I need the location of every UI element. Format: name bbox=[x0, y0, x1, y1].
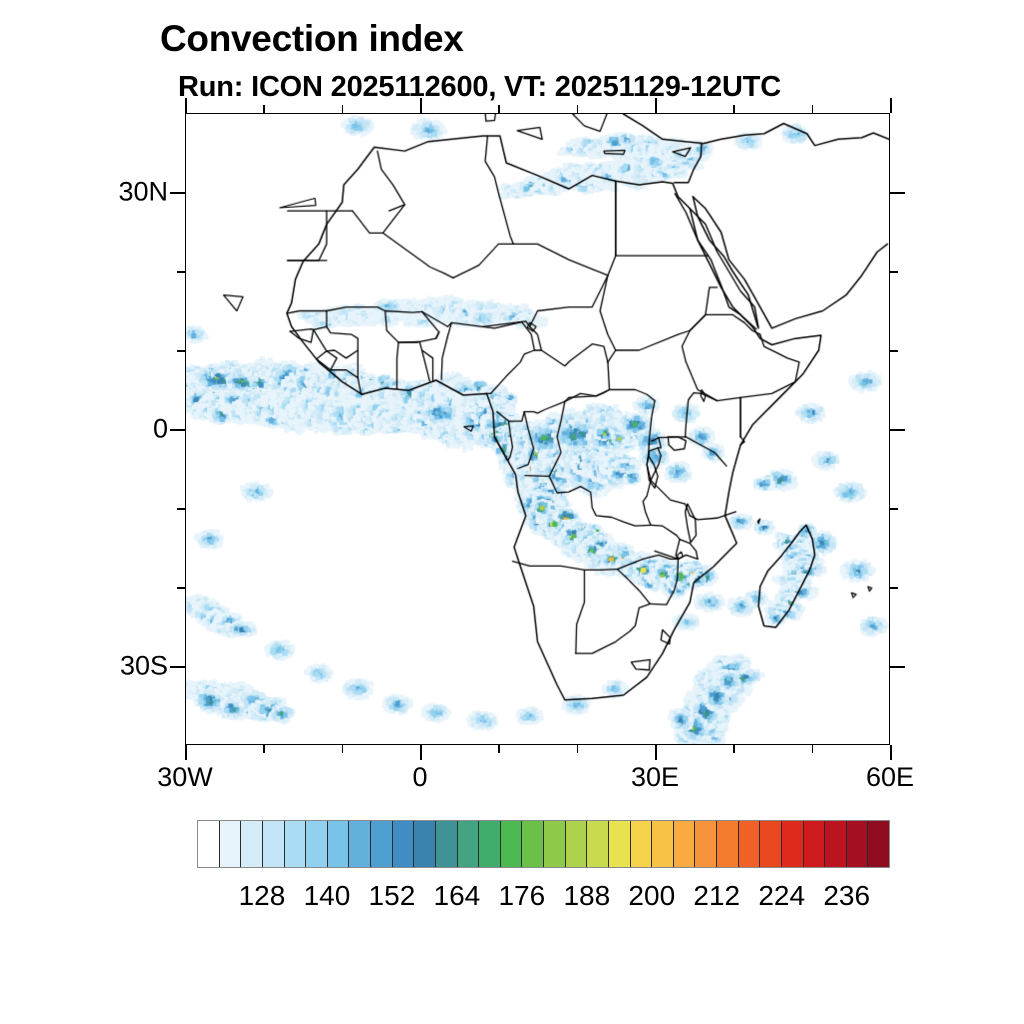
colorbar-tick-label: 224 bbox=[758, 880, 805, 912]
colorbar-cells bbox=[197, 820, 890, 868]
x-axis-label: 30E bbox=[631, 762, 679, 793]
x-axis-label: 30W bbox=[157, 762, 213, 793]
y-minor-tick-right bbox=[890, 587, 898, 589]
y-minor-tick bbox=[177, 350, 185, 352]
y-axis-label: 30N bbox=[100, 177, 168, 208]
colorbar-cell bbox=[587, 821, 609, 867]
colorbar-tick-label: 128 bbox=[239, 880, 286, 912]
colorbar-cell bbox=[695, 821, 717, 867]
x-minor-tick bbox=[263, 745, 265, 753]
y-major-tick-right bbox=[890, 429, 905, 431]
colorbar-cell bbox=[804, 821, 826, 867]
x-minor-tick-top bbox=[733, 105, 735, 113]
x-minor-tick-top bbox=[263, 105, 265, 113]
colorbar-cell bbox=[220, 821, 242, 867]
colorbar-cell bbox=[522, 821, 544, 867]
colorbar-cell bbox=[674, 821, 696, 867]
colorbar-cell bbox=[263, 821, 285, 867]
colorbar-cell bbox=[609, 821, 631, 867]
colorbar-tick-label: 212 bbox=[693, 880, 740, 912]
colorbar-tick-label: 200 bbox=[628, 880, 675, 912]
x-major-tick-top bbox=[185, 98, 187, 113]
y-major-tick bbox=[170, 429, 185, 431]
y-minor-tick bbox=[177, 508, 185, 510]
x-minor-tick bbox=[577, 745, 579, 753]
colorbar-tick-label: 140 bbox=[304, 880, 351, 912]
colorbar bbox=[197, 820, 890, 868]
colorbar-cell bbox=[631, 821, 653, 867]
colorbar-cell bbox=[371, 821, 393, 867]
colorbar-cell bbox=[436, 821, 458, 867]
colorbar-cell bbox=[349, 821, 371, 867]
colorbar-cell bbox=[544, 821, 566, 867]
x-minor-tick-top bbox=[812, 105, 814, 113]
x-major-tick bbox=[420, 745, 422, 760]
x-minor-tick bbox=[498, 745, 500, 753]
colorbar-cell bbox=[198, 821, 220, 867]
colorbar-cell bbox=[825, 821, 847, 867]
colorbar-cell bbox=[566, 821, 588, 867]
y-major-tick bbox=[170, 192, 185, 194]
x-minor-tick-top bbox=[577, 105, 579, 113]
y-major-tick-right bbox=[890, 666, 905, 668]
colorbar-cell bbox=[328, 821, 350, 867]
colorbar-cell bbox=[458, 821, 480, 867]
y-axis-label: 30S bbox=[100, 651, 168, 682]
colorbar-cell bbox=[501, 821, 523, 867]
y-minor-tick-right bbox=[890, 350, 898, 352]
x-major-tick-top bbox=[420, 98, 422, 113]
y-minor-tick-right bbox=[890, 271, 898, 273]
x-minor-tick bbox=[812, 745, 814, 753]
y-axis-label: 0 bbox=[100, 414, 168, 445]
run-valid-time-subtitle: Run: ICON 2025112600, VT: 20251129-12UTC bbox=[178, 71, 781, 104]
colorbar-cell bbox=[414, 821, 436, 867]
colorbar-tick-label: 188 bbox=[563, 880, 610, 912]
x-minor-tick bbox=[733, 745, 735, 753]
colorbar-cell bbox=[306, 821, 328, 867]
colorbar-cell bbox=[652, 821, 674, 867]
y-major-tick bbox=[170, 666, 185, 668]
colorbar-tick-label: 236 bbox=[823, 880, 870, 912]
colorbar-tick-label: 152 bbox=[369, 880, 416, 912]
convection-index-raster bbox=[186, 114, 889, 744]
x-minor-tick bbox=[342, 745, 344, 753]
x-axis-label: 0 bbox=[412, 762, 427, 793]
y-minor-tick bbox=[177, 587, 185, 589]
colorbar-cell bbox=[868, 821, 889, 867]
x-major-tick bbox=[890, 745, 892, 760]
y-major-tick-right bbox=[890, 192, 905, 194]
colorbar-cell bbox=[479, 821, 501, 867]
colorbar-tick-label: 164 bbox=[434, 880, 481, 912]
x-axis-label: 60E bbox=[866, 762, 914, 793]
colorbar-cell bbox=[285, 821, 307, 867]
x-major-tick-top bbox=[890, 98, 892, 113]
colorbar-cell bbox=[847, 821, 869, 867]
x-major-tick-top bbox=[655, 98, 657, 113]
x-major-tick bbox=[655, 745, 657, 760]
x-major-tick bbox=[185, 745, 187, 760]
colorbar-tick-label: 176 bbox=[498, 880, 545, 912]
colorbar-cell bbox=[241, 821, 263, 867]
page-title: Convection index bbox=[160, 18, 464, 60]
colorbar-cell bbox=[739, 821, 761, 867]
x-minor-tick-top bbox=[342, 105, 344, 113]
x-minor-tick-top bbox=[498, 105, 500, 113]
convection-index-plot: Convection index Run: ICON 2025112600, V… bbox=[0, 0, 1024, 1024]
colorbar-cell bbox=[760, 821, 782, 867]
colorbar-cell bbox=[782, 821, 804, 867]
y-minor-tick bbox=[177, 271, 185, 273]
colorbar-cell bbox=[717, 821, 739, 867]
colorbar-tick-labels: 128140152164176188200212224236 bbox=[197, 880, 890, 920]
map-plot-area bbox=[185, 113, 890, 745]
y-minor-tick-right bbox=[890, 508, 898, 510]
colorbar-cell bbox=[393, 821, 415, 867]
